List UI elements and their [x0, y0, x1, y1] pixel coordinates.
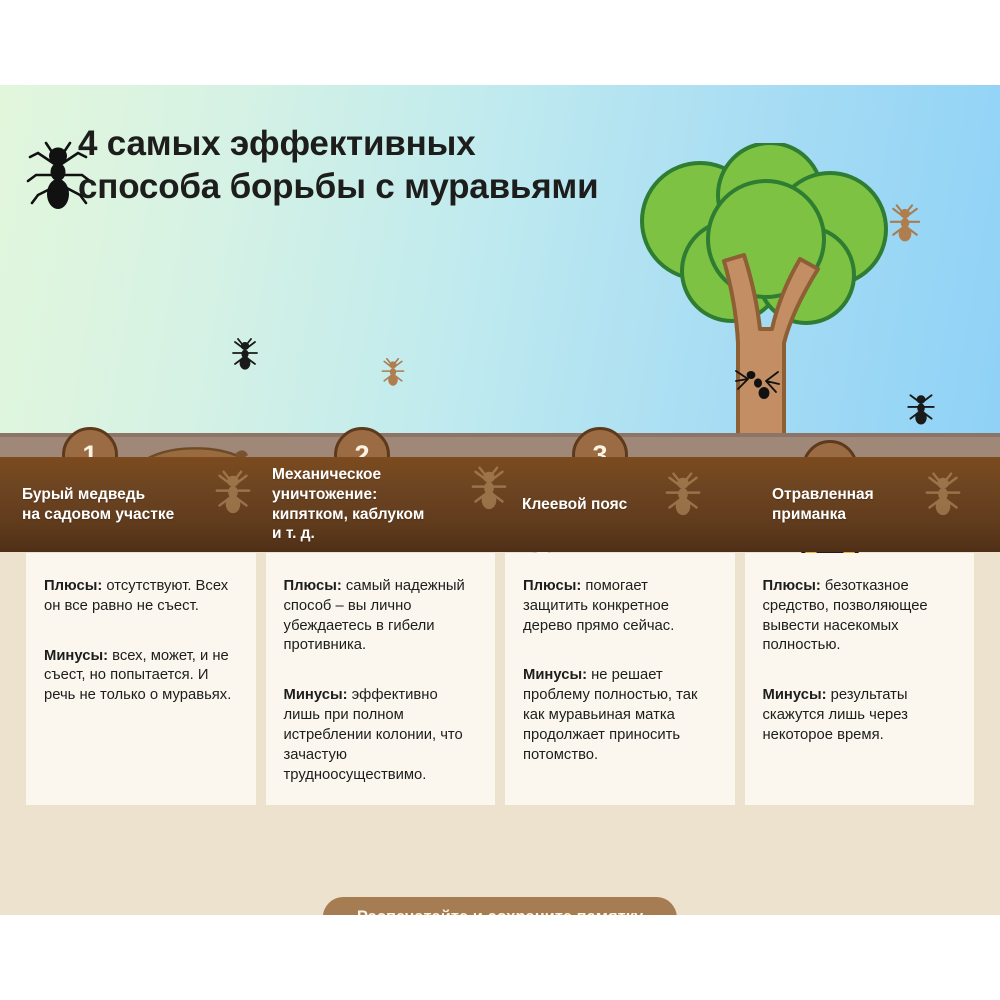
- method-header-1: Бурый медведь на садовом участке: [0, 457, 250, 552]
- ant-icon: [885, 203, 925, 243]
- cons-block: Минусы: не решает проблему полностью, та…: [523, 666, 717, 765]
- cons-label: Минусы:: [523, 667, 587, 683]
- print-memo-button[interactable]: Распечатайте и сохраните памятку: [323, 897, 677, 915]
- ant-icon: [228, 337, 262, 371]
- method-card-4: Плюсы: безотказное средство, позволяющее…: [745, 553, 975, 805]
- pros-block: Плюсы: отсутствуют. Всех он все равно не…: [44, 577, 238, 617]
- method-header-list: Бурый медведь на садовом участке Механич…: [0, 457, 1000, 552]
- cons-label: Минусы:: [284, 687, 348, 703]
- method-headers-band: Бурый медведь на садовом участке Механич…: [0, 457, 1000, 552]
- method-cards: Плюсы: отсутствуют. Всех он все равно не…: [0, 553, 1000, 805]
- pros-block: Плюсы: самый надежный способ – вы лично …: [284, 577, 478, 656]
- method-card-1: Плюсы: отсутствуют. Всех он все равно не…: [26, 553, 256, 805]
- method-header-label: Бурый медведь на садовом участке: [22, 485, 174, 525]
- pros-label: Плюсы:: [284, 578, 342, 594]
- pros-block: Плюсы: безотказное средство, позволяющее…: [763, 577, 957, 656]
- method-header-3: Клеевой пояс: [500, 457, 750, 552]
- cons-label: Минусы:: [763, 687, 827, 703]
- ant-icon: [903, 390, 939, 426]
- pros-block: Плюсы: помогает защитить конкретное дере…: [523, 577, 717, 636]
- method-header-2: Механическое уничтожение: кипятком, кабл…: [250, 457, 500, 552]
- tree-icon: [620, 143, 900, 433]
- method-header-label: Механическое уничтожение: кипятком, кабл…: [272, 465, 424, 544]
- method-header-4: Отравленная приманка: [750, 457, 1000, 552]
- illustration-scene: 4 самых эффективных способа борьбы с мур…: [0, 85, 1000, 433]
- method-header-label: Отравленная приманка: [772, 485, 874, 525]
- method-header-label: Клеевой пояс: [522, 495, 627, 515]
- infographic-poster: 4 самых эффективных способа борьбы с мур…: [0, 85, 1000, 915]
- method-card-2: Плюсы: самый надежный способ – вы лично …: [266, 553, 496, 805]
- cons-label: Минусы:: [44, 648, 108, 664]
- cons-block: Минусы: эффективно лишь при полном истре…: [284, 686, 478, 785]
- method-card-3: Плюсы: помогает защитить конкретное дере…: [505, 553, 735, 805]
- ant-icon: [378, 357, 408, 387]
- cons-block: Минусы: всех, может, и не съест, но попы…: [44, 647, 238, 706]
- pros-label: Плюсы:: [523, 578, 581, 594]
- cons-block: Минусы: результаты скажутся лишь через н…: [763, 686, 957, 745]
- pros-label: Плюсы:: [44, 578, 102, 594]
- pros-label: Плюсы:: [763, 578, 821, 594]
- page-title: 4 самых эффективных способа борьбы с мур…: [78, 123, 678, 208]
